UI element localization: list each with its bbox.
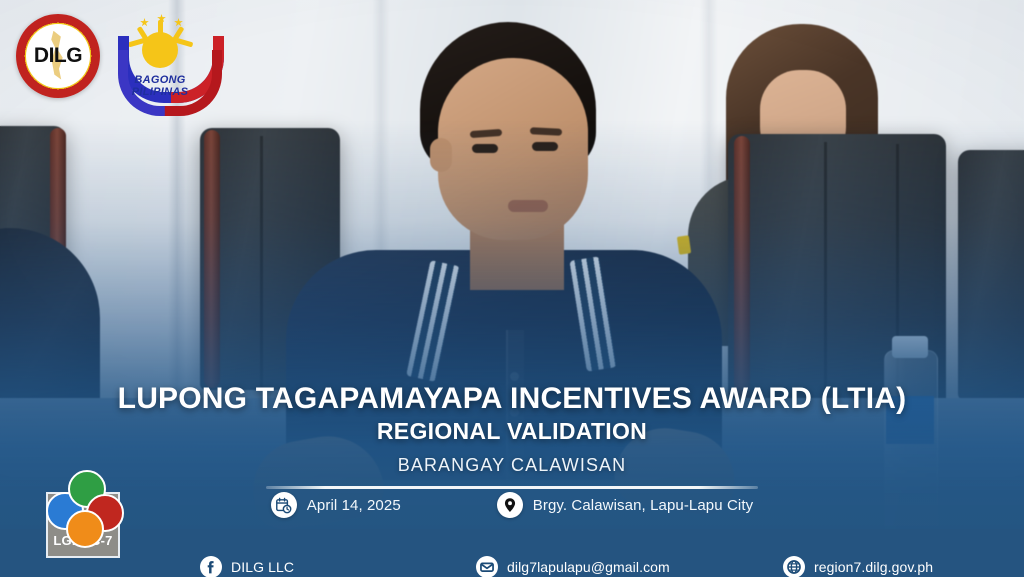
event-subtitle: REGIONAL VALIDATION: [0, 418, 1024, 446]
globe-icon: [783, 556, 805, 577]
dilg-seal-label: DILG: [34, 44, 82, 68]
dilg-seal-icon: DILG: [16, 14, 100, 98]
barangay-name: BARANGAY CALAWISAN: [0, 455, 1024, 476]
event-date: April 14, 2025: [271, 492, 401, 518]
event-title: LUPONG TAGAPAMAYAPA INCENTIVES AWARD (LT…: [0, 383, 1024, 414]
bagong-pilipinas-icon: BAGONG PILIPINAS: [108, 14, 212, 98]
contact-facebook[interactable]: DILG LLC: [200, 556, 294, 577]
event-date-label: April 14, 2025: [307, 497, 401, 514]
title-divider: [266, 486, 758, 489]
bagong-pilipinas-label: BAGONG PILIPINAS: [108, 74, 212, 98]
title-block: LUPONG TAGAPAMAYAPA INCENTIVES AWARD (LT…: [0, 383, 1024, 489]
header-logos: DILG BAGONG PILIPINAS: [16, 14, 212, 98]
email-label: dilg7lapulapu@gmail.com: [507, 559, 670, 575]
facebook-label: DILG LLC: [231, 559, 294, 575]
website-label: region7.dilg.gov.ph: [814, 559, 933, 575]
event-location: Brgy. Calawisan, Lapu-Lapu City: [497, 492, 753, 518]
email-icon: [476, 556, 498, 577]
calendar-clock-icon: [271, 492, 297, 518]
event-location-label: Brgy. Calawisan, Lapu-Lapu City: [533, 497, 753, 514]
contact-email[interactable]: dilg7lapulapu@gmail.com: [476, 556, 670, 577]
location-pin-icon: [497, 492, 523, 518]
contact-website[interactable]: region7.dilg.gov.ph: [783, 556, 933, 577]
event-banner: DILG BAGONG PILIPINAS LGRRC-7: [0, 0, 1024, 577]
event-info-row: April 14, 2025 Brgy. Calawisan, Lapu-Lap…: [0, 492, 1024, 518]
facebook-icon: [200, 556, 222, 577]
